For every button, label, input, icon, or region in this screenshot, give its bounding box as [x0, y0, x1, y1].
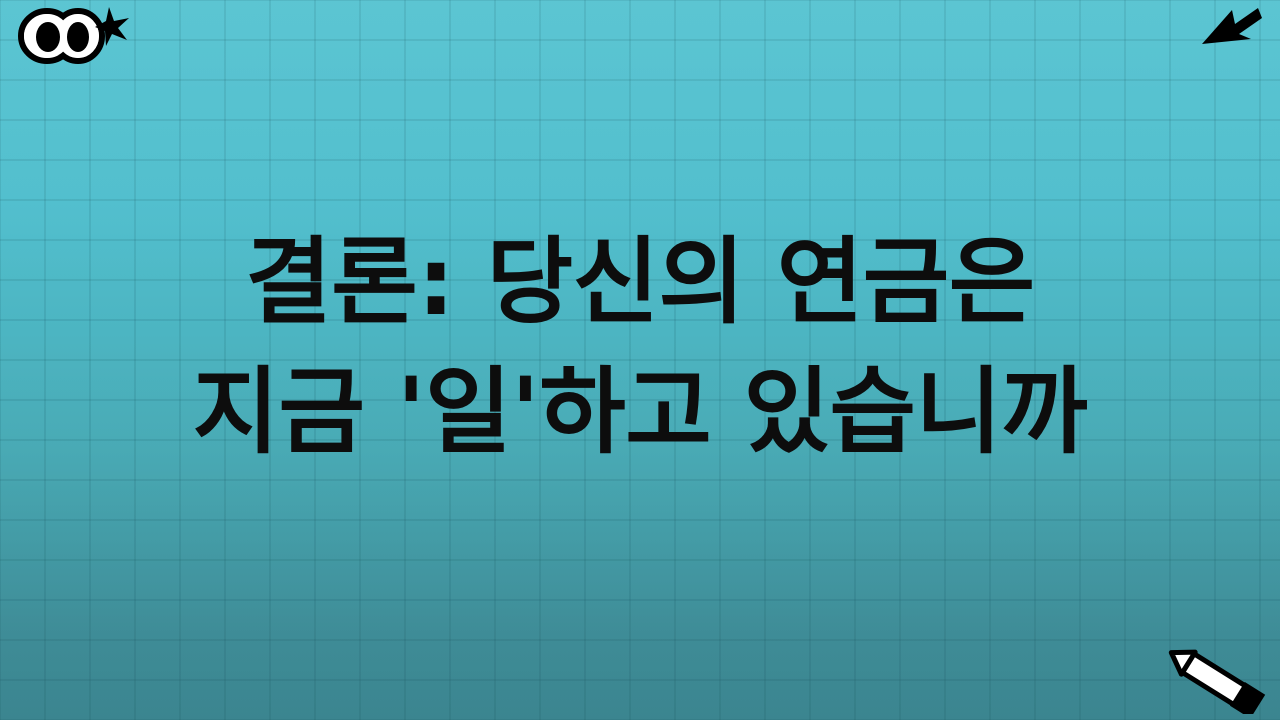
headline-line-1: 결론: 당신의 연금은: [245, 218, 1034, 348]
headline-line-2: 지금 '일'하고 있습니까: [193, 348, 1088, 478]
slide-canvas: 결론: 당신의 연금은 지금 '일'하고 있습니까: [0, 0, 1280, 720]
headline-block: 결론: 당신의 연금은 지금 '일'하고 있습니까: [0, 0, 1280, 720]
